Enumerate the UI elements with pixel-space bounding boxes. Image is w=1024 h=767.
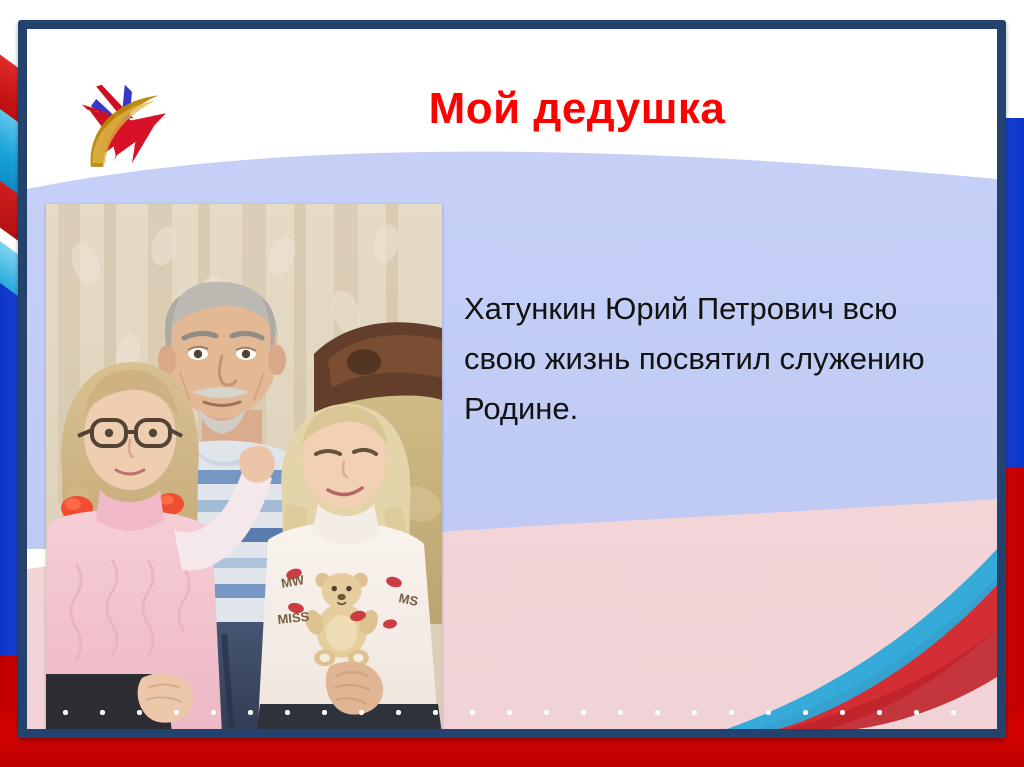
slide-frame: Мой дедушка [18,20,1006,738]
slide-content-area: Мой дедушка [27,29,997,729]
family-photo: MW MISS MS [46,204,442,729]
body-text: Хатункин Юрий Петрович всю свою жизнь по… [464,284,974,435]
page-title: Мой дедушка [227,84,927,134]
slide-canvas: Мой дедушка [0,0,1024,767]
victory-star-logo [69,74,177,174]
